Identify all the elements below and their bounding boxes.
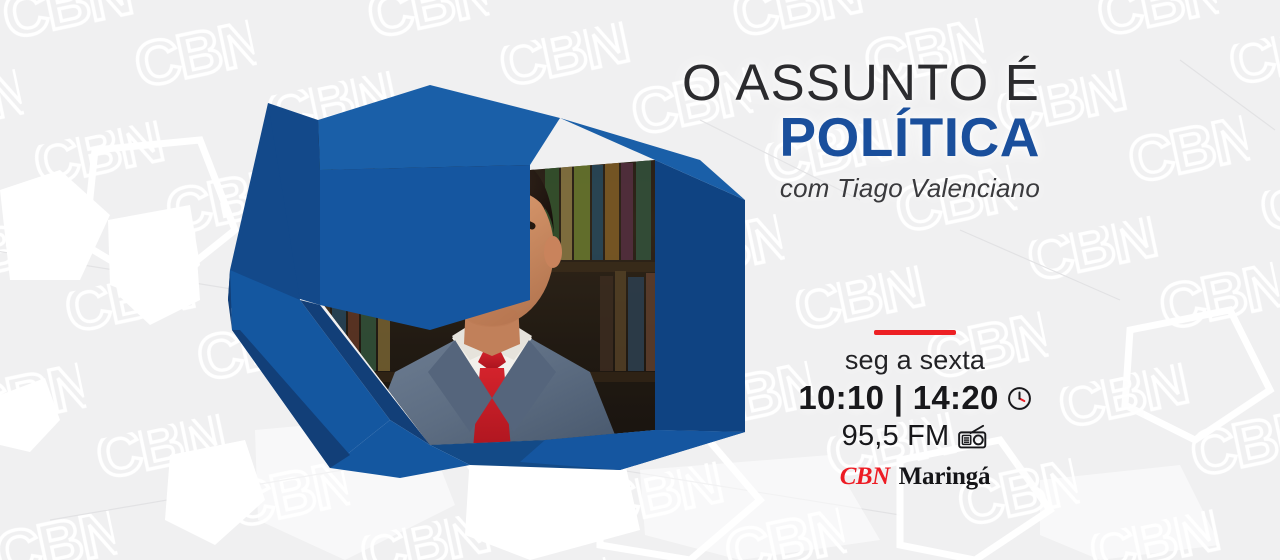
show-title-block: O ASSUNTO É POLÍTICA com Tiago Valencian… [420, 56, 1040, 204]
red-divider-rule [874, 330, 956, 335]
station-logo: CBN Maringá [785, 463, 1045, 491]
clock-icon [1007, 386, 1032, 411]
schedule-frequency-label: 95,5 FM [842, 420, 950, 453]
show-host-subtitle: com Tiago Valenciano [420, 173, 1040, 204]
logo-brand-text: CBN [840, 463, 890, 491]
logo-city-text: Maringá [899, 463, 991, 491]
show-title-line-1: O ASSUNTO É [420, 56, 1040, 110]
schedule-days-label: seg a sexta [785, 345, 1045, 376]
schedule-frequency-row: 95,5 FM [785, 420, 1045, 453]
radio-icon [957, 424, 988, 450]
radio-show-banner: CBN CBN [0, 0, 1280, 560]
schedule-block: seg a sexta 10:10 | 14:20 95,5 FM [785, 330, 1045, 491]
schedule-times-label: 10:10 | 14:20 [798, 379, 998, 417]
show-title-line-2: POLÍTICA [420, 108, 1040, 167]
schedule-times-row: 10:10 | 14:20 [785, 379, 1045, 417]
